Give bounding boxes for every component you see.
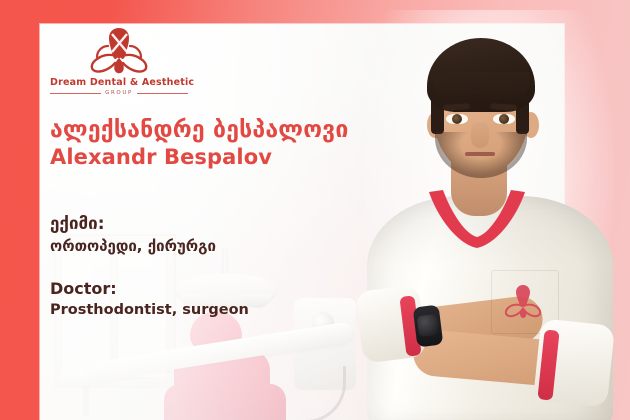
doctor-portrait (355, 0, 630, 420)
logo-subtitle: GROUP (105, 90, 133, 96)
doctor-name-georgian: ალექსანდრე ბესპალოვი (50, 118, 380, 144)
business-card-image: Dream Dental & Aesthetic GROUP ალექსანდრ… (0, 0, 630, 420)
logo-wordmark: Dream Dental & Aesthetic (50, 77, 188, 88)
clinic-logo: Dream Dental & Aesthetic GROUP (50, 24, 188, 96)
eye-right (493, 114, 515, 124)
role-label-english: Doctor: (50, 279, 380, 299)
role-label-georgian: ექიმი: (50, 214, 380, 235)
doctor-name-english: Alexandr Bespalov (50, 145, 380, 169)
eye-left (446, 114, 468, 124)
iris-right (499, 114, 509, 124)
role-georgian-block: ექიმი: ორთოპედი, ქირურგი (50, 214, 380, 257)
lotus-tooth-icon (82, 24, 156, 76)
smartwatch (413, 305, 444, 348)
watch-face-icon (417, 314, 439, 337)
logo-subtitle-row: GROUP (50, 90, 188, 96)
doctor-info-block: ალექსანდრე ბესპალოვი Alexandr Bespalov ე… (50, 118, 380, 319)
mouth (465, 152, 495, 156)
iris-left (452, 114, 462, 124)
role-value-english: Prosthodontist, surgeon (50, 301, 380, 320)
logo-rule-right (137, 93, 188, 94)
chest-embroidered-logo (501, 282, 545, 328)
logo-rule-left (50, 93, 101, 94)
role-value-georgian: ორთოპედი, ქირურგი (50, 237, 380, 257)
role-english-block: Doctor: Prosthodontist, surgeon (50, 279, 380, 320)
scrubs-collar (423, 190, 531, 252)
